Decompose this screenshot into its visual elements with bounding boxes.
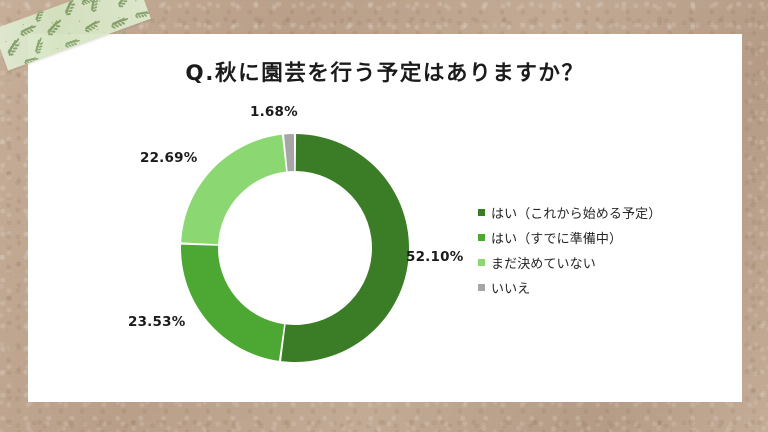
legend-item: はい（これから始める予定） — [478, 200, 728, 225]
slice-value-label-2: 22.69% — [140, 150, 197, 166]
legend-swatch-icon — [478, 259, 485, 266]
chart-legend: はい（これから始める予定） はい（すでに準備中） まだ決めていない いいえ — [478, 200, 728, 300]
donut-chart-graphic — [180, 133, 410, 363]
legend-item-label: はい（これから始める予定） — [491, 203, 661, 222]
donut-chart: 52.10% 23.53% 22.69% 1.68% はい（これから始める予定）… — [28, 34, 742, 402]
legend-item-label: はい（すでに準備中） — [491, 228, 622, 247]
donut-svg — [180, 133, 410, 363]
slice-value-label-1: 23.53% — [128, 314, 185, 330]
legend-item: いいえ — [478, 275, 728, 300]
legend-swatch-icon — [478, 234, 485, 241]
donut-slice — [281, 134, 409, 362]
legend-item: まだ決めていない — [478, 250, 728, 275]
white-content-card: Q.秋に園芸を行う予定はありますか？ 52.10% 23.53% 22.69% … — [28, 34, 742, 402]
donut-slice — [284, 134, 294, 171]
slice-value-label-0: 52.10% — [406, 249, 463, 265]
slice-value-label-3: 1.68% — [250, 104, 298, 120]
donut-slice — [181, 245, 284, 361]
legend-item-label: まだ決めていない — [491, 253, 596, 272]
slide-canvas: Q.秋に園芸を行う予定はありますか？ 52.10% 23.53% 22.69% … — [0, 0, 768, 432]
legend-swatch-icon — [478, 284, 485, 291]
legend-item: はい（すでに準備中） — [478, 225, 728, 250]
legend-swatch-icon — [478, 209, 485, 216]
legend-item-label: いいえ — [491, 278, 530, 297]
